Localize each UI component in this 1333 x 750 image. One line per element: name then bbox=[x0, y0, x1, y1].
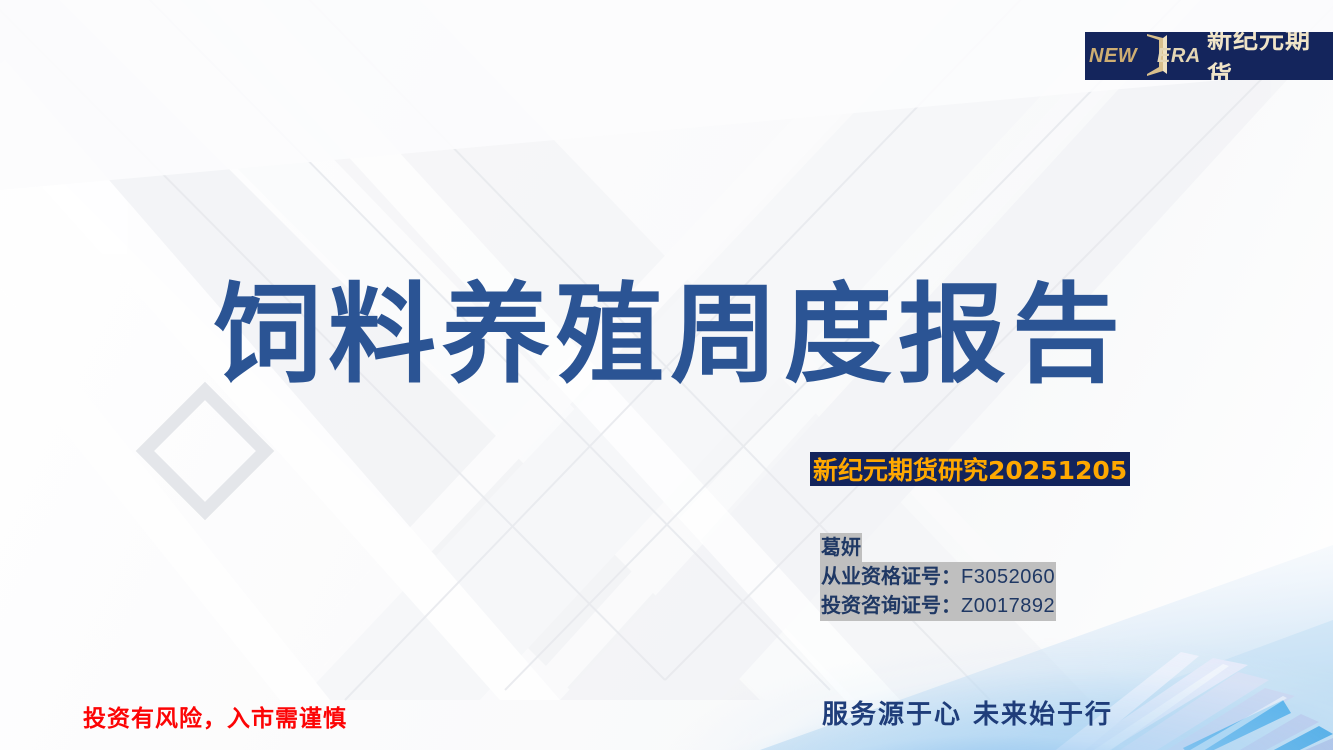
logo-company-name: 新纪元期货 bbox=[1207, 32, 1333, 80]
research-badge: 新纪元期货研究20251205 bbox=[810, 452, 1130, 486]
company-logo[interactable]: NEW ERA 新纪元期货 bbox=[1085, 32, 1333, 80]
diamond-decoration bbox=[136, 382, 275, 521]
author-name: 葛妍 bbox=[820, 533, 862, 562]
author-name-row: 葛妍 bbox=[820, 533, 1056, 562]
qualification-value: F3052060 bbox=[961, 566, 1055, 588]
consulting-line: 投资咨询证号：Z0017892 bbox=[820, 591, 1056, 621]
qualification-row: 从业资格证号：F3052060 bbox=[820, 562, 1056, 591]
slide-canvas: NEW ERA 新纪元期货 饲料养殖周度报告 新纪元期货研究20251205 葛… bbox=[0, 0, 1333, 750]
logo-mark: NEW ERA bbox=[1085, 32, 1203, 80]
logo-text-era: ERA bbox=[1157, 45, 1201, 68]
consulting-row: 投资咨询证号：Z0017892 bbox=[820, 591, 1056, 620]
consulting-value: Z0017892 bbox=[961, 595, 1055, 617]
consulting-label: 投资咨询证号： bbox=[821, 593, 961, 617]
company-slogan: 服务源于心 未来始于行 bbox=[822, 694, 1113, 731]
logo-text-new: NEW bbox=[1089, 45, 1137, 68]
qualification-line: 从业资格证号：F3052060 bbox=[820, 562, 1056, 592]
qualification-label: 从业资格证号： bbox=[821, 564, 961, 588]
research-badge-label: 新纪元期货研究20251205 bbox=[813, 451, 1127, 487]
risk-disclaimer: 投资有风险，入市需谨慎 bbox=[83, 699, 347, 733]
page-title: 饲料养殖周度报告 bbox=[214, 278, 1134, 395]
author-info: 葛妍 从业资格证号：F3052060 投资咨询证号：Z0017892 bbox=[820, 533, 1056, 620]
